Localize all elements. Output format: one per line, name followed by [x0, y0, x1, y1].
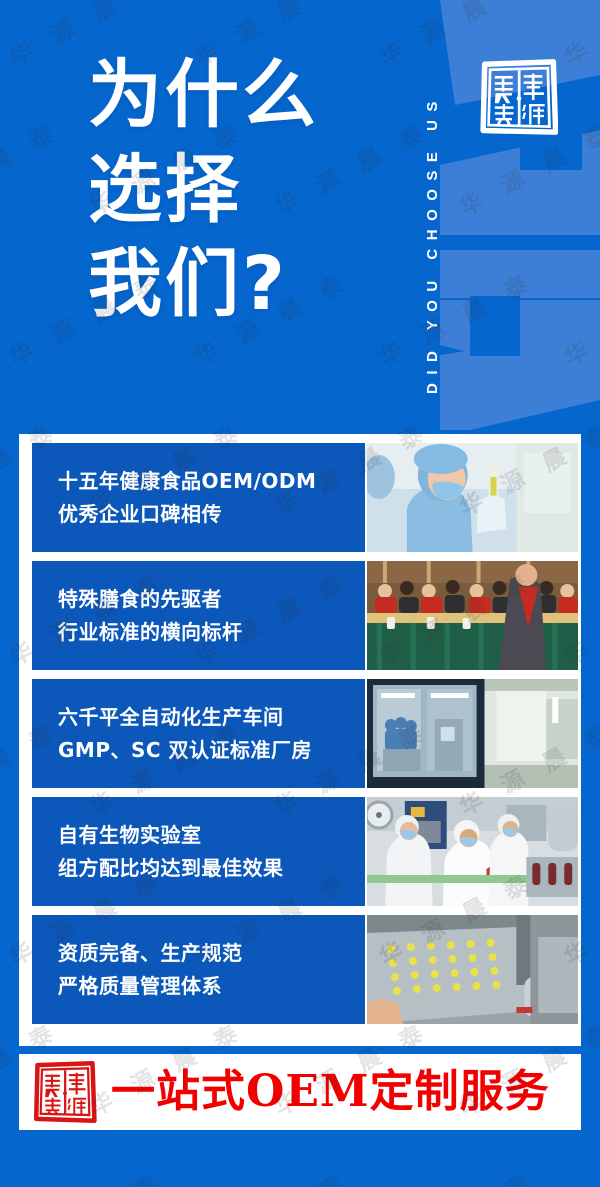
watermark-text: 华 源 晨 泰 — [557, 1162, 600, 1187]
feature-4-line-1: 自有生物实验室 — [58, 819, 365, 851]
feature-photo-5 — [367, 915, 578, 1024]
feature-1-line-2: 优秀企业口碑相传 — [58, 498, 365, 530]
watermark-text: 华 源 晨 泰 — [372, 1162, 540, 1187]
list-item: 资质完备、生产规范 严格质量管理体系 — [32, 915, 578, 1024]
feature-2-line-1: 特殊膳食的先驱者 — [58, 583, 365, 615]
feature-3-line-2: GMP、SC 双认证标准厂房 — [58, 734, 365, 766]
feature-1-line-1: 十五年健康食品OEM/ODM — [58, 465, 365, 497]
feature-3-line-1: 六千平全自动化生产车间 — [58, 701, 365, 733]
poster-header: 为什么 选择 我们? DID YOU CHOOSE US — [0, 0, 600, 430]
headline-line-1: 为什么 — [88, 48, 388, 143]
vertical-subtitle-text: DID YOU CHOOSE US — [424, 93, 441, 394]
feature-5-line-2: 严格质量管理体系 — [58, 970, 365, 1002]
headline-line-2: 选择 — [88, 143, 388, 238]
list-item: 自有生物实验室 组方配比均达到最佳效果 — [32, 797, 578, 906]
brand-seal-red-icon — [33, 1060, 97, 1124]
watermark-text: 华 源 晨 泰 — [187, 1162, 355, 1187]
feature-text-5: 资质完备、生产规范 严格质量管理体系 — [32, 915, 365, 1024]
list-item: 十五年健康食品OEM/ODM 优秀企业口碑相传 — [32, 443, 578, 552]
feature-4-line-2: 组方配比均达到最佳效果 — [58, 852, 365, 884]
list-item: 特殊膳食的先驱者 行业标准的横向标杆 — [32, 561, 578, 670]
watermark-text: 华 源 晨 泰 — [2, 1162, 170, 1187]
feature-photo-3 — [367, 679, 578, 788]
feature-text-4: 自有生物实验室 组方配比均达到最佳效果 — [32, 797, 365, 906]
features-panel: 十五年健康食品OEM/ODM 优秀企业口碑相传 — [19, 434, 581, 1046]
feature-text-2: 特殊膳食的先驱者 行业标准的横向标杆 — [32, 561, 365, 670]
banner-slogan: 一站式OEM定制服务 — [111, 1070, 550, 1114]
feature-photo-1 — [367, 443, 578, 552]
feature-photo-4 — [367, 797, 578, 906]
bottom-banner: 一站式OEM定制服务 — [19, 1054, 581, 1130]
feature-2-line-2: 行业标准的横向标杆 — [58, 616, 365, 648]
feature-text-1: 十五年健康食品OEM/ODM 优秀企业口碑相传 — [32, 443, 365, 552]
features-list: 十五年健康食品OEM/ODM 优秀企业口碑相传 — [32, 443, 578, 1024]
feature-photo-2 — [367, 561, 578, 670]
page-title: 为什么 选择 我们? — [88, 48, 388, 332]
list-item: 六千平全自动化生产车间 GMP、SC 双认证标准厂房 — [32, 679, 578, 788]
vertical-subtitle: DID YOU CHOOSE US — [396, 18, 436, 394]
feature-text-3: 六千平全自动化生产车间 GMP、SC 双认证标准厂房 — [32, 679, 365, 788]
brand-seal-icon — [480, 58, 558, 136]
poster-root: 为什么 选择 我们? DID YOU CHOOSE US — [0, 0, 600, 1187]
feature-5-line-1: 资质完备、生产规范 — [58, 937, 365, 969]
headline-line-3: 我们? — [88, 237, 388, 332]
